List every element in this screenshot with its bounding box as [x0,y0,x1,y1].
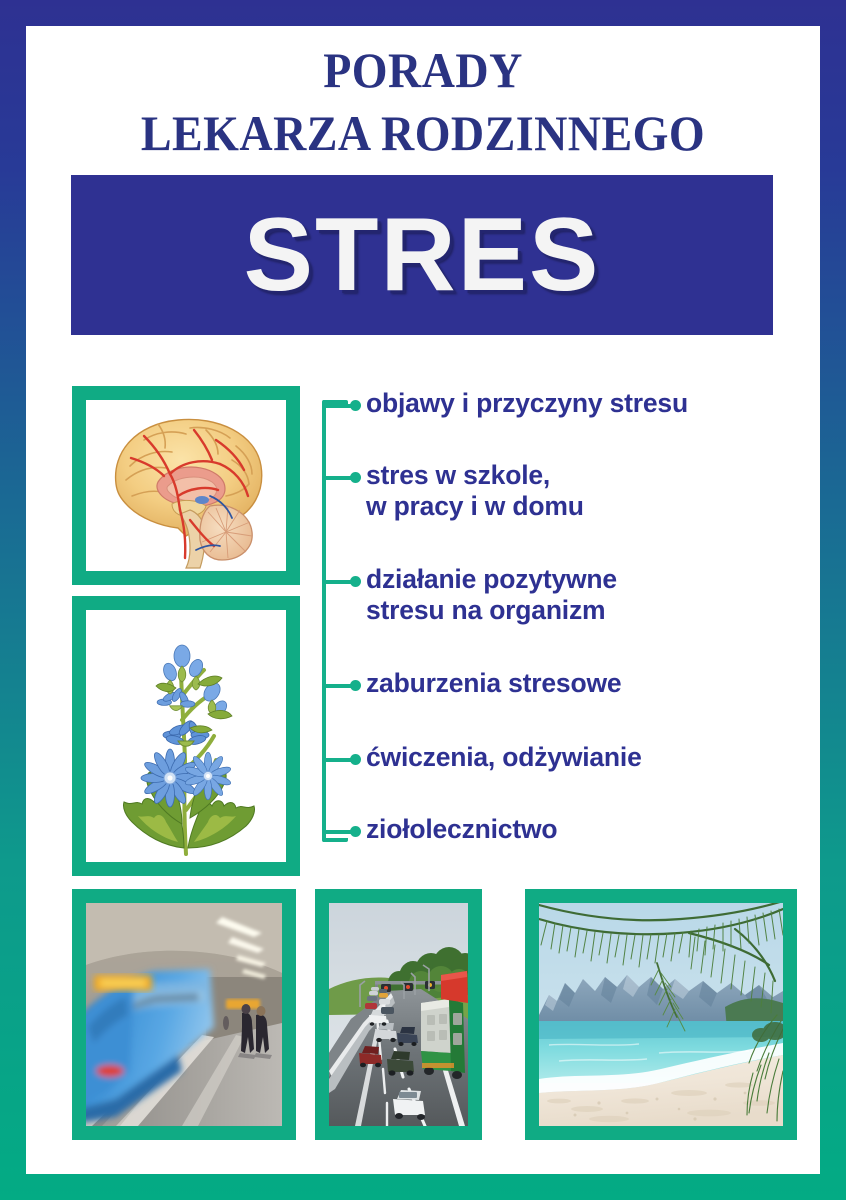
brain-anatomy-illustration [86,400,286,571]
topic-item-2-line-2: w pracy i w domu [366,491,584,522]
bullet-dot-3 [350,576,361,587]
chicory-plant-illustration [86,610,286,862]
topic-list: objawy i przyczyny stresu stres w szkole… [322,386,802,856]
topic-item-6[interactable]: ziołolecznictwo [366,814,557,845]
topic-item-6-line-1: ziołolecznictwo [366,814,557,845]
bracket-connector [322,400,348,842]
branch-line-6 [326,830,352,834]
chicory-plant-icon [86,610,286,862]
topic-item-1[interactable]: objawy i przyczyny stresu [366,388,688,419]
subway-train-scene [86,903,282,1126]
topic-item-2-line-1: stres w szkole, [366,460,584,491]
book-cover: PORADY LEKARZA RODZINNEGO STRES [0,0,846,1200]
road-image-frame [315,889,482,1140]
branch-line-4 [326,684,352,688]
metro-image-frame [72,889,296,1140]
highway-traffic-photo [329,903,468,1126]
series-title-line2: LEKARZA RODZINNEGO [58,102,788,164]
bullet-dot-4 [350,680,361,691]
branch-line-3 [326,580,352,584]
branch-line-1 [326,404,352,408]
topic-item-3-line-2: stresu na organizm [366,595,617,626]
subway-train-photo [86,903,282,1126]
topic-item-5[interactable]: ćwiczenia, odżywianie [366,742,642,773]
branch-line-2 [326,476,352,480]
tropical-beach-scene [539,903,783,1126]
topic-item-2[interactable]: stres w szkole, w pracy i w domu [366,460,584,522]
series-title-line1: PORADY [58,26,788,102]
bullet-dot-5 [350,754,361,765]
topic-item-4[interactable]: zaburzenia stresowe [366,668,621,699]
beach-image-frame [525,889,797,1140]
topic-item-3[interactable]: działanie pozytywne stresu na organizm [366,564,617,626]
series-title: PORADY LEKARZA RODZINNEGO [26,26,820,168]
bullet-dot-1 [350,400,361,411]
bullet-dot-6 [350,826,361,837]
tropical-beach-photo [539,903,783,1126]
topic-item-5-line-1: ćwiczenia, odżywianie [366,742,642,773]
bullet-dot-2 [350,472,361,483]
topic-item-1-line-1: objawy i przyczyny stresu [366,388,688,419]
main-title-text: STRES [71,175,773,335]
brain-anatomy-icon [86,400,286,571]
highway-traffic-scene [329,903,468,1126]
branch-line-5 [326,758,352,762]
main-title-band: STRES [71,175,773,335]
topic-item-4-line-1: zaburzenia stresowe [366,668,621,699]
herb-image-frame [72,596,300,876]
brain-image-frame [72,386,300,585]
topic-item-3-line-1: działanie pozytywne [366,564,617,595]
